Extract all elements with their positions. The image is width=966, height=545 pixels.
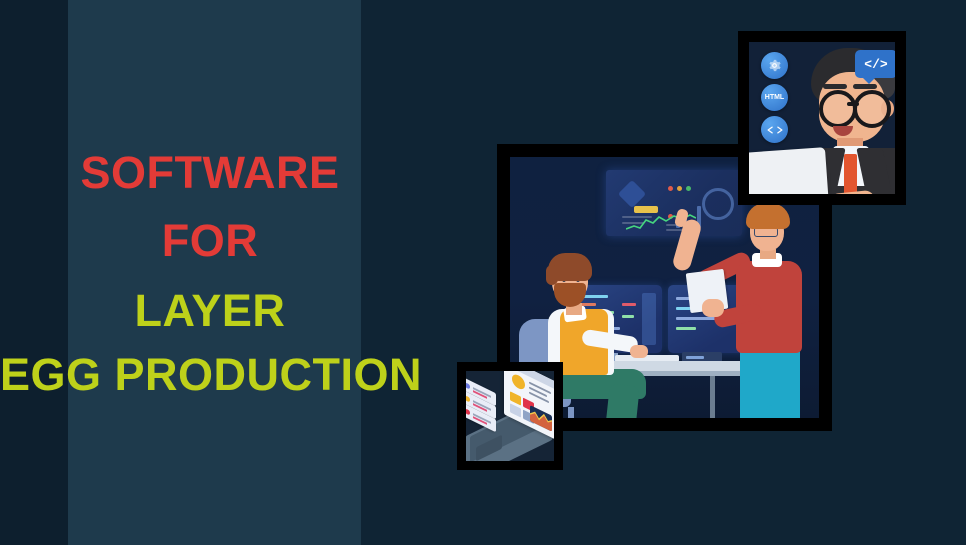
dashboard-tile — [510, 403, 521, 417]
wall-screen-dot — [686, 186, 691, 191]
code-bubble: </> — [855, 50, 895, 78]
developer-glasses-bridge — [847, 102, 859, 106]
standing-person-hand — [702, 299, 724, 317]
headline-line-2: FOR — [0, 218, 420, 264]
standing-person-leg — [766, 405, 792, 418]
laptop-photo-frame — [457, 362, 563, 470]
wall-screen-diamond — [618, 180, 646, 208]
developer-necktie — [844, 154, 857, 194]
gear-icon[interactable] — [761, 52, 788, 79]
headline-line-4: EGG PRODUCTION — [0, 352, 420, 398]
developer-with-laptop-photo: HTML </> — [749, 42, 895, 194]
wall-screen-ring-chart — [702, 188, 734, 220]
area-chart — [530, 405, 552, 432]
code-brackets-icon[interactable] — [761, 116, 788, 143]
code-bubble-label: </> — [864, 57, 887, 72]
banner-canvas: SOFTWARE FOR LAYER EGG PRODUCTION — [0, 0, 966, 545]
wall-screen — [606, 170, 742, 236]
headline-line-1: SOFTWARE — [0, 150, 420, 196]
wall-screen-dot — [668, 186, 673, 191]
standing-person-hair — [746, 203, 790, 229]
desk-leg — [710, 376, 715, 418]
developer-glasses-lens — [853, 90, 891, 128]
developer-eyebrow — [853, 84, 877, 89]
headline-block: SOFTWARE FOR LAYER EGG PRODUCTION — [0, 150, 420, 398]
developer-eyebrow — [823, 84, 847, 89]
seated-person-hand — [630, 345, 648, 358]
wall-screen-highlight-pill — [634, 206, 658, 213]
office-chair-post — [568, 407, 574, 418]
donut-chart — [512, 372, 525, 391]
laptop-analytics-photo — [466, 371, 554, 461]
developer-glasses-lens — [819, 90, 857, 128]
seated-person-hair — [546, 265, 558, 285]
wall-screen-dot — [677, 186, 682, 191]
headline-line-3: LAYER — [0, 288, 420, 334]
html-badge-label: HTML — [765, 94, 784, 101]
developer-laptop-lid — [749, 147, 829, 194]
html-badge[interactable]: HTML — [761, 84, 788, 111]
developer-photo-frame: HTML </> — [738, 31, 906, 205]
